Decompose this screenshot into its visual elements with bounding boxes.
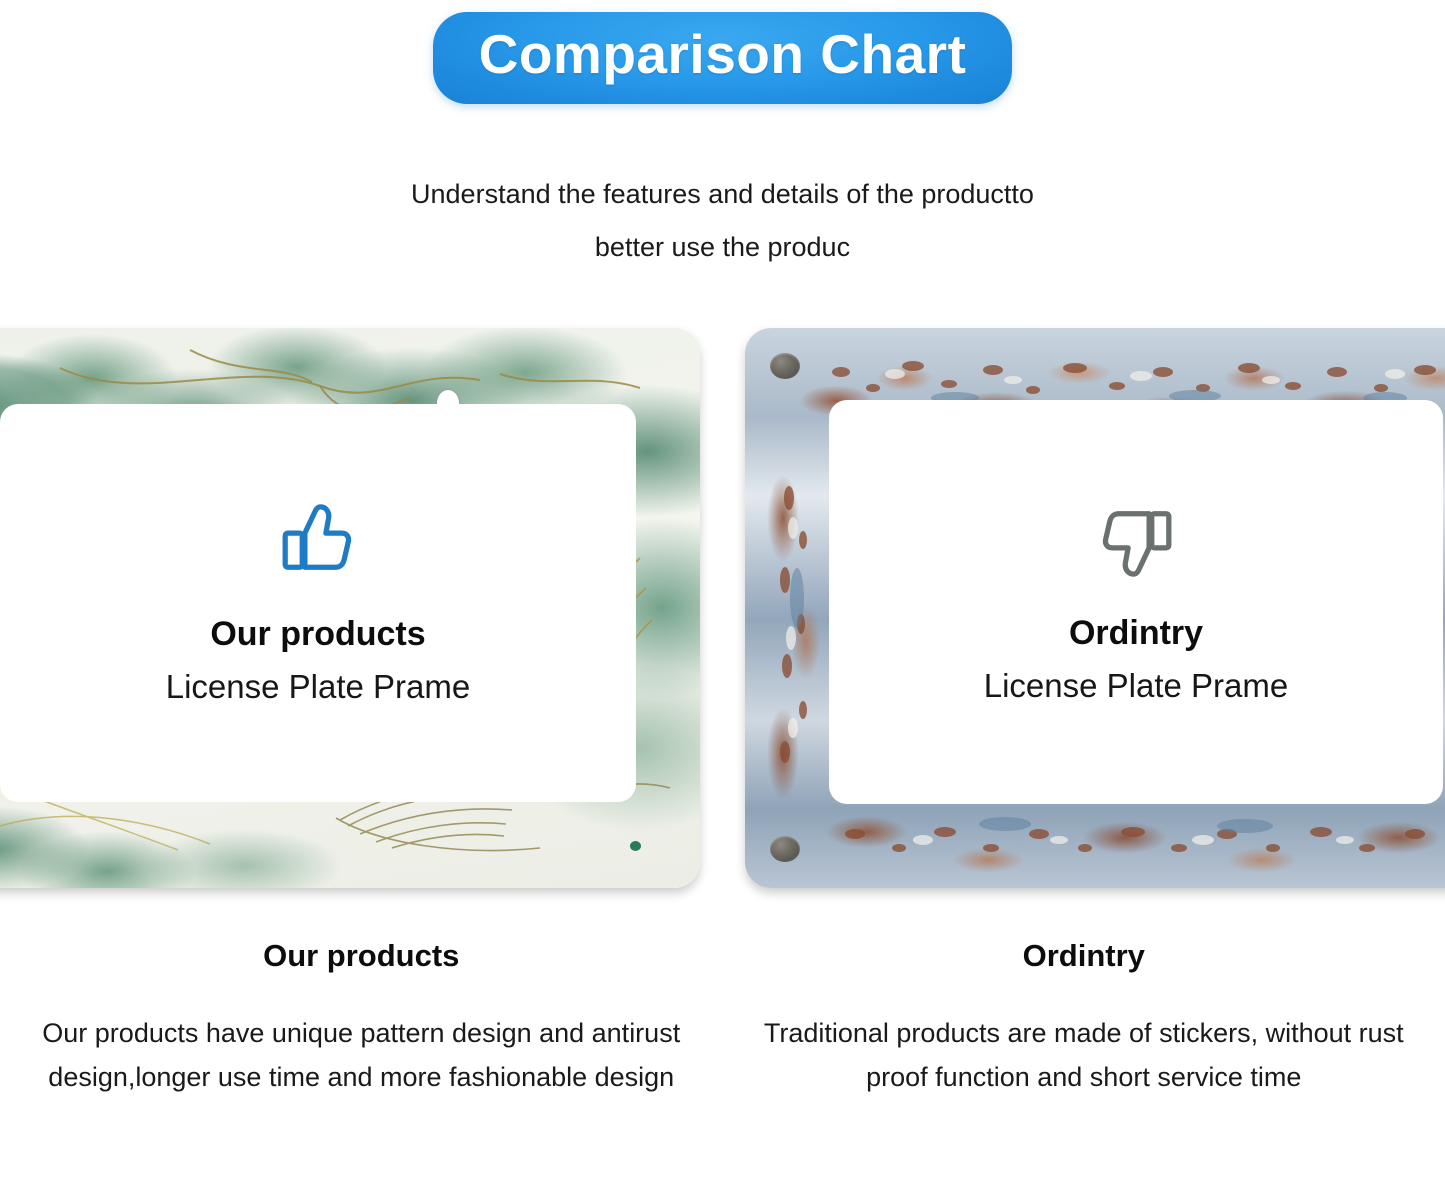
subtitle-line-1: Understand the features and details of t…: [411, 179, 1034, 209]
right-product-card: Ordintry License Plate Prame: [745, 328, 1445, 888]
screw-hole-icon-top: [770, 353, 800, 379]
left-card-title: Our products: [210, 613, 425, 656]
right-plate-window: Ordintry License Plate Prame: [829, 400, 1443, 804]
title-banner: Comparison Chart: [433, 12, 1013, 104]
right-card-title: Ordintry: [1069, 612, 1203, 655]
subtitle-line-2: better use the produc: [0, 221, 1445, 274]
right-description-column: Ordintry Traditional products are made o…: [723, 938, 1445, 1178]
page-subtitle: Understand the features and details of t…: [0, 168, 1445, 273]
left-description-column: Our products Our products have unique pa…: [0, 938, 723, 1178]
thumbs-down-icon: [1094, 498, 1178, 582]
product-comparison-row: Our products License Plate Prame: [0, 328, 1445, 888]
right-bottom-heading: Ordintry: [749, 938, 1420, 974]
left-card-subtitle: License Plate Prame: [166, 666, 471, 707]
right-card-subtitle: License Plate Prame: [984, 665, 1289, 706]
left-bottom-heading: Our products: [26, 938, 697, 974]
title-banner-container: Comparison Chart: [0, 12, 1445, 104]
left-bottom-body: Our products have unique pattern design …: [26, 1012, 697, 1099]
page-title: Comparison Chart: [479, 26, 967, 84]
bottom-description-row: Our products Our products have unique pa…: [0, 938, 1445, 1178]
screw-hole-icon-bottom: [770, 836, 800, 862]
comparison-chart-page: Comparison Chart Understand the features…: [0, 0, 1445, 1178]
left-product-card: Our products License Plate Prame: [0, 328, 700, 888]
right-bottom-body: Traditional products are made of sticker…: [749, 1012, 1420, 1099]
left-plate-window: Our products License Plate Prame: [0, 404, 636, 802]
green-dot-accent-2: [630, 841, 641, 851]
thumbs-up-icon: [276, 499, 360, 583]
